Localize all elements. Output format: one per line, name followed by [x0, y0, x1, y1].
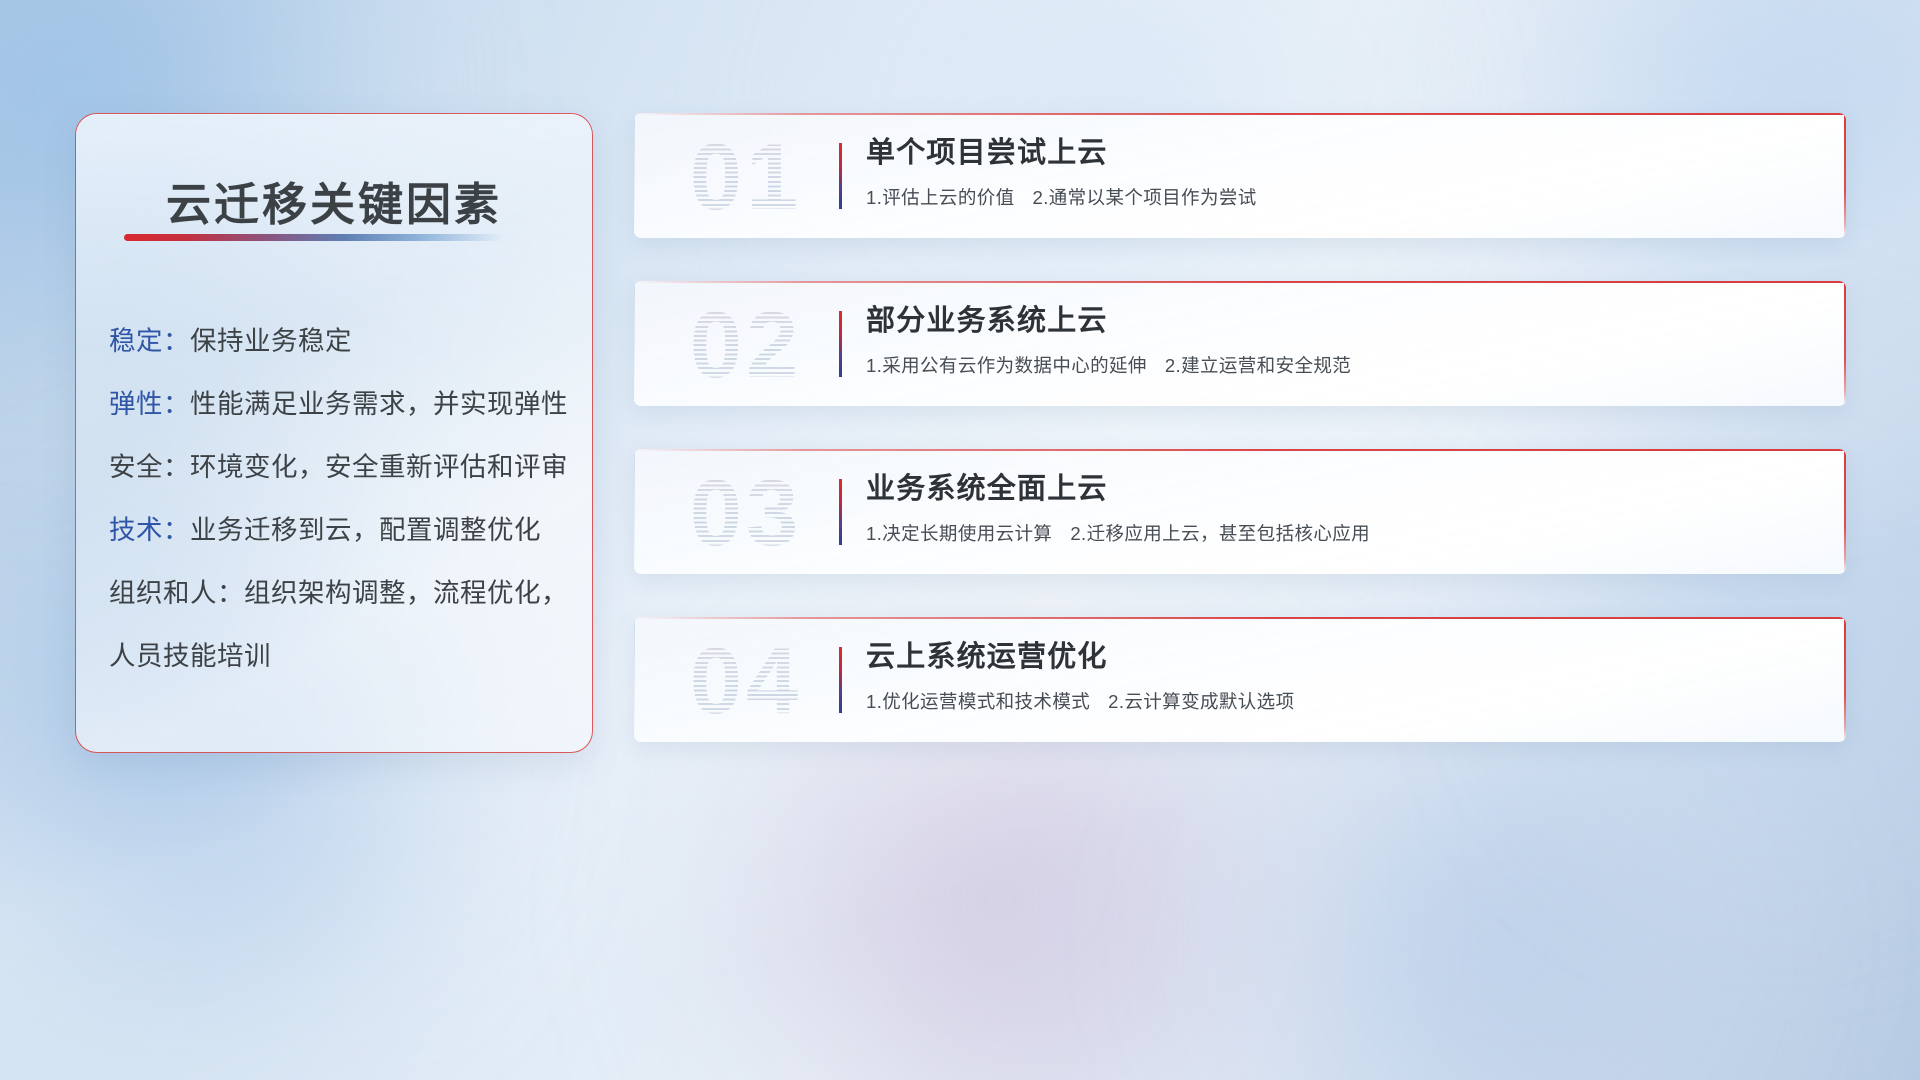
stage-card-01[interactable]: 01 单个项目尝试上云 1.评估上云的价值2.通常以某个项目作为尝试	[634, 113, 1846, 238]
title-underline-accent	[124, 234, 504, 241]
list-item-text: 环境变化，安全重新评估和评审	[190, 452, 568, 482]
list-item-label: 组织和人：	[109, 578, 244, 608]
key-factors-list: 稳定：保持业务稳定 弹性：性能满足业务需求，并实现弹性 安全：环境变化，安全重新…	[109, 310, 570, 688]
key-factors-panel: 云迁移关键因素 稳定：保持业务稳定 弹性：性能满足业务需求，并实现弹性 安全：环…	[75, 113, 593, 753]
stage-cards: 01 单个项目尝试上云 1.评估上云的价值2.通常以某个项目作为尝试 02 部分…	[634, 113, 1846, 785]
list-item-continuation: 人员技能培训	[109, 625, 570, 688]
card-top-accent	[634, 281, 1846, 283]
list-item-text: 组织架构调整，流程优化，	[244, 578, 568, 608]
card-detail-2: 2.建立运营和安全规范	[1165, 355, 1351, 376]
card-content: 单个项目尝试上云 1.评估上云的价值2.通常以某个项目作为尝试	[866, 131, 1816, 212]
list-item-label: 弹性：	[109, 389, 190, 419]
page-title: 云迁移关键因素	[76, 168, 592, 233]
card-left-edge	[634, 617, 635, 742]
card-top-accent	[634, 113, 1846, 115]
list-item: 技术：业务迁移到云，配置调整优化	[109, 499, 570, 562]
card-content: 云上系统运营优化 1.优化运营模式和技术模式2.云计算变成默认选项	[866, 635, 1816, 716]
card-accent-bar	[839, 479, 842, 545]
card-description: 1.采用公有云作为数据中心的延伸2.建立运营和安全规范	[866, 352, 1816, 380]
stage-number-04: 04	[656, 625, 836, 737]
list-item: 弹性：性能满足业务需求，并实现弹性	[109, 373, 570, 436]
card-top-accent	[634, 449, 1846, 451]
card-accent-bar	[839, 143, 842, 209]
card-left-edge	[634, 113, 635, 238]
card-description: 1.评估上云的价值2.通常以某个项目作为尝试	[866, 184, 1816, 212]
card-detail-2: 2.迁移应用上云，甚至包括核心应用	[1070, 523, 1370, 544]
card-detail-2: 2.云计算变成默认选项	[1108, 691, 1294, 712]
card-title: 业务系统全面上云	[866, 467, 1816, 511]
card-detail-2: 2.通常以某个项目作为尝试	[1033, 187, 1257, 208]
stage-number-02: 02	[656, 289, 836, 401]
list-item: 安全：环境变化，安全重新评估和评审	[109, 436, 570, 499]
card-title: 单个项目尝试上云	[866, 131, 1816, 175]
card-detail-1: 1.评估上云的价值	[866, 187, 1015, 208]
list-item-text: 人员技能培训	[109, 641, 271, 671]
card-content: 部分业务系统上云 1.采用公有云作为数据中心的延伸2.建立运营和安全规范	[866, 299, 1816, 380]
list-item: 组织和人：组织架构调整，流程优化，	[109, 562, 570, 625]
card-title: 云上系统运营优化	[866, 635, 1816, 679]
card-detail-1: 1.采用公有云作为数据中心的延伸	[866, 355, 1147, 376]
card-title: 部分业务系统上云	[866, 299, 1816, 343]
list-item-text: 业务迁移到云，配置调整优化	[190, 515, 541, 545]
card-detail-1: 1.决定长期使用云计算	[866, 523, 1052, 544]
list-item-text: 保持业务稳定	[190, 326, 352, 356]
list-item-text: 性能满足业务需求，并实现弹性	[190, 389, 568, 419]
card-content: 业务系统全面上云 1.决定长期使用云计算2.迁移应用上云，甚至包括核心应用	[866, 467, 1816, 548]
card-right-accent	[1844, 113, 1846, 238]
card-right-accent	[1844, 449, 1846, 574]
list-item-label: 稳定：	[109, 326, 190, 356]
stage-card-03[interactable]: 03 业务系统全面上云 1.决定长期使用云计算2.迁移应用上云，甚至包括核心应用	[634, 449, 1846, 574]
stage-card-04[interactable]: 04 云上系统运营优化 1.优化运营模式和技术模式2.云计算变成默认选项	[634, 617, 1846, 742]
stage-number-03: 03	[656, 457, 836, 569]
list-item-label: 安全：	[109, 452, 190, 482]
card-accent-bar	[839, 647, 842, 713]
list-item-label: 技术：	[109, 515, 190, 545]
stage-card-02[interactable]: 02 部分业务系统上云 1.采用公有云作为数据中心的延伸2.建立运营和安全规范	[634, 281, 1846, 406]
card-description: 1.优化运营模式和技术模式2.云计算变成默认选项	[866, 688, 1816, 716]
card-top-accent	[634, 617, 1846, 619]
stage-number-01: 01	[656, 121, 836, 233]
list-item: 稳定：保持业务稳定	[109, 310, 570, 373]
card-accent-bar	[839, 311, 842, 377]
card-description: 1.决定长期使用云计算2.迁移应用上云，甚至包括核心应用	[866, 520, 1816, 548]
card-left-edge	[634, 281, 635, 406]
card-right-accent	[1844, 617, 1846, 742]
card-detail-1: 1.优化运营模式和技术模式	[866, 691, 1090, 712]
card-right-accent	[1844, 281, 1846, 406]
card-left-edge	[634, 449, 635, 574]
